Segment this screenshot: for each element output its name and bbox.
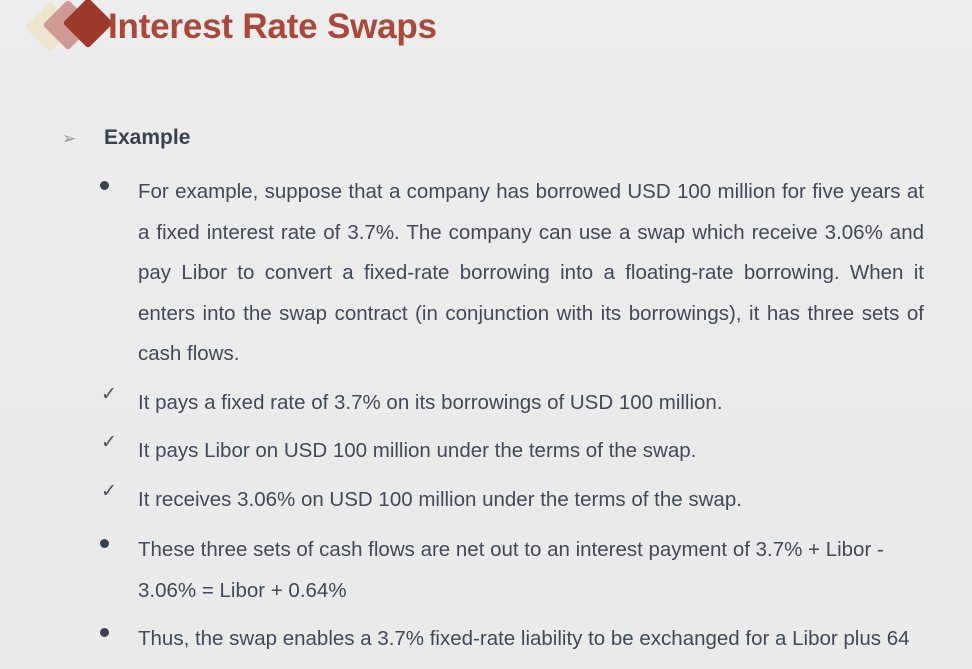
slide-body: ➢ Example For example, suppose that a co… bbox=[0, 124, 972, 669]
check-item-text: It receives 3.06% on USD 100 million und… bbox=[138, 480, 924, 521]
dot-bullet-icon bbox=[100, 539, 109, 548]
check-bullet-icon: ✓ bbox=[101, 382, 117, 408]
check-item: ✓ It receives 3.06% on USD 100 million u… bbox=[100, 480, 924, 521]
check-bullet-icon: ✓ bbox=[101, 430, 117, 456]
bullet-paragraph: For example, suppose that a company has … bbox=[100, 172, 924, 375]
dot-bullet-icon bbox=[100, 181, 109, 190]
bullet-paragraph: These three sets of cash flows are net o… bbox=[100, 530, 924, 611]
check-item-text: It pays Libor on USD 100 million under t… bbox=[138, 431, 924, 472]
example-heading-label: Example bbox=[104, 126, 190, 149]
dot-bullet-icon bbox=[100, 628, 109, 637]
bullet-paragraph-text: For example, suppose that a company has … bbox=[138, 172, 924, 375]
check-item: ✓ It pays a fixed rate of 3.7% on its bo… bbox=[100, 383, 924, 424]
bullet-paragraph: Thus, the swap enables a 3.7% fixed-rate… bbox=[100, 619, 924, 669]
example-heading: ➢ Example bbox=[62, 124, 972, 158]
check-item-text: It pays a fixed rate of 3.7% on its borr… bbox=[138, 383, 924, 424]
check-item: ✓ It pays Libor on USD 100 million under… bbox=[100, 431, 924, 472]
slide-title: Interest Rate Swaps bbox=[108, 0, 437, 54]
slide-header: Interest Rate Swaps bbox=[0, 0, 972, 62]
check-bullet-icon: ✓ bbox=[101, 479, 117, 505]
slide-canvas: Interest Rate Swaps ➢ Example For exampl… bbox=[0, 0, 972, 669]
bullet-paragraph-text: These three sets of cash flows are net o… bbox=[138, 530, 924, 611]
bullet-paragraph-text: Thus, the swap enables a 3.7% fixed-rate… bbox=[138, 619, 924, 669]
arrow-bullet-icon: ➢ bbox=[62, 128, 76, 150]
